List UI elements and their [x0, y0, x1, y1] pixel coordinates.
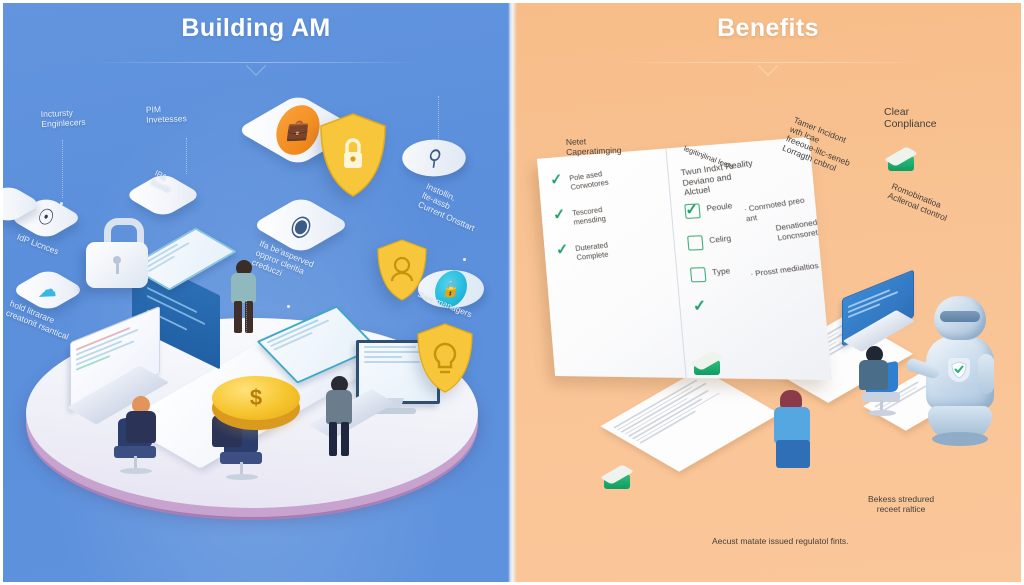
left-panel: Building AM Inctursty Enginlecers PIM In…: [0, 0, 512, 585]
gold-coin: $: [206, 368, 306, 442]
green-box-icon-2: [694, 354, 728, 380]
connector-dot: [463, 258, 466, 261]
connector-line: [438, 96, 439, 140]
checkbox-checked-icon[interactable]: [684, 203, 700, 219]
shield-lock-icon: [318, 112, 388, 198]
checklist-item-label: Pole ased Corwotores: [569, 168, 610, 192]
compliance-checklist-card[interactable]: ✓ Pole ased Corwotores ✓ Tescored mensdi…: [537, 137, 832, 380]
seated-person-1: [122, 396, 162, 448]
seated-person-left: [772, 390, 818, 476]
ipa-sonid-tile: [123, 172, 202, 218]
connector-dot: [287, 305, 290, 308]
checklist-column-right: Twun Indxt Reality Deviano and Alctuel P…: [665, 137, 832, 380]
seated-person-right: [856, 346, 894, 394]
checklist-item-label: Celirg: [708, 233, 731, 245]
connector-line: [246, 300, 247, 340]
checklist-note-denationed: Denationed Loncnsoret: [774, 219, 820, 244]
fingerprint-icon: ◉: [251, 196, 351, 254]
right-title-notch: [758, 56, 778, 76]
checklist-item-label: Duterated Complete: [575, 240, 610, 263]
shield-check-icon: [948, 358, 970, 382]
checklist-item[interactable]: ✓: [692, 297, 816, 314]
check-icon: ✓: [556, 243, 571, 258]
checklist-item-label: Peoule: [705, 200, 732, 213]
check-icon: ✓: [553, 208, 568, 223]
laptop-right: [838, 284, 918, 346]
check-icon: ✓: [550, 173, 565, 188]
label-pim-investees: PIM Invetesses: [146, 103, 187, 124]
check-icon: ✓: [692, 299, 709, 314]
checklist-item-label: Type: [711, 266, 731, 278]
label-install-process: Instollin, lte-assb Current Onsttart: [417, 181, 485, 233]
shield-bulb-icon: [416, 322, 474, 394]
checklist-item[interactable]: ✓ Tescored mensding: [553, 202, 663, 227]
left-title-notch: [246, 56, 266, 76]
label-industry-engineers: Inctursty Enginlecers: [41, 107, 86, 129]
checklist-item[interactable]: ✓ Duterated Complete: [556, 238, 666, 261]
connector-line: [62, 140, 63, 198]
right-panel-title: Benefits: [512, 14, 1024, 43]
connector-line: [186, 138, 187, 174]
checkbox-empty-icon[interactable]: [687, 235, 704, 250]
checklist-heading: Twun Indxt Reality Deviano and Alctuel: [680, 151, 805, 198]
panel-divider: [508, 0, 517, 585]
standing-person-center: [228, 260, 262, 336]
standing-person-right: [322, 376, 358, 458]
checkbox-empty-icon[interactable]: [689, 267, 706, 282]
green-box-icon-1: [888, 150, 922, 176]
checklist-item[interactable]: ✓ Pole ased Corwotores: [550, 166, 660, 193]
green-box-icon-3: [604, 468, 634, 492]
coin-symbol: $: [212, 376, 300, 420]
left-panel-title: Building AM: [0, 14, 512, 43]
search-user-icon: ⚲: [389, 132, 479, 184]
assistant-robot: [912, 296, 1008, 448]
cloud-icon: ☁: [10, 268, 86, 312]
checklist-item-label: Tescored mensding: [572, 204, 607, 227]
infographic-canvas: Building AM Inctursty Enginlecers PIM In…: [0, 0, 1024, 585]
checklist-column-left: ✓ Pole ased Corwotores ✓ Tescored mensdi…: [537, 149, 685, 378]
